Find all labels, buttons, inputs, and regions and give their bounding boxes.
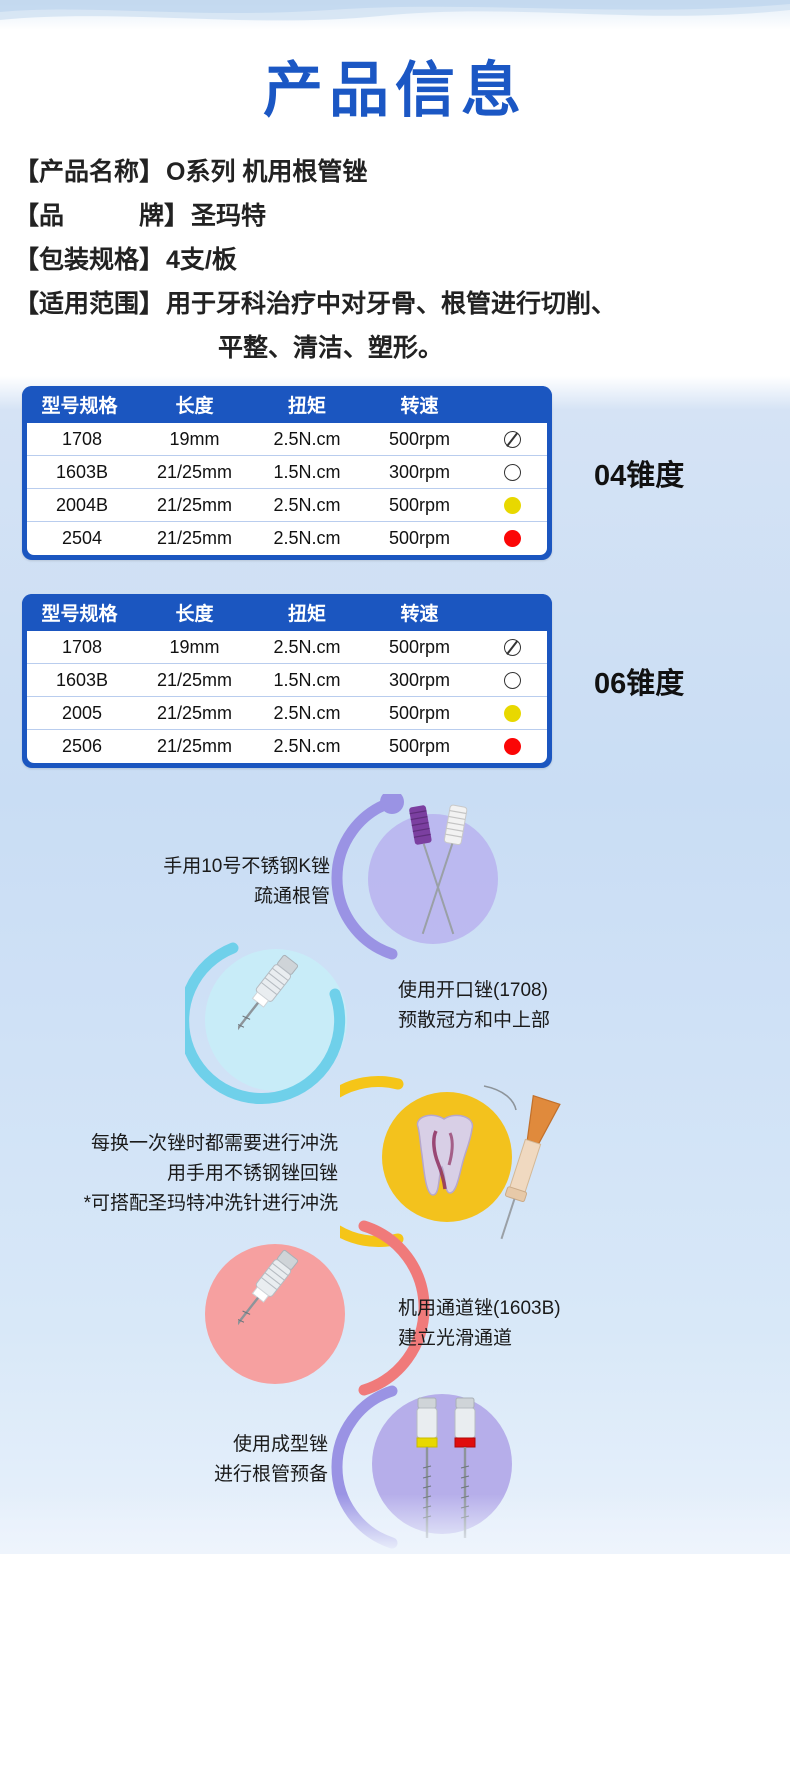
cell-length: 21/25mm <box>137 462 252 483</box>
cell-speed: 500rpm <box>362 528 477 549</box>
column-header-model: 型号规格 <box>22 599 137 626</box>
spec-tables-area: 型号规格 长度 扭矩 转速 1708 19mm 2.5N.cm 500rpm <box>0 370 790 794</box>
cell-torque: 2.5N.cm <box>252 528 362 549</box>
cell-model: 1603B <box>27 462 137 483</box>
cell-marker <box>477 672 547 689</box>
spec-value: 4支/板 <box>164 238 790 282</box>
column-header-torque: 扭矩 <box>252 391 362 418</box>
yellow-circle-icon <box>504 705 521 722</box>
red-circle-icon <box>504 738 521 755</box>
cell-torque: 2.5N.cm <box>252 703 362 724</box>
cell-model: 2504 <box>27 528 137 549</box>
table-row: 1708 19mm 2.5N.cm 500rpm <box>27 423 547 456</box>
cell-length: 21/25mm <box>137 736 252 757</box>
slashed-circle-icon <box>504 431 521 448</box>
cell-model: 2004B <box>27 495 137 516</box>
cell-marker <box>477 464 547 481</box>
cell-length: 19mm <box>137 429 252 450</box>
cell-model: 1708 <box>27 637 137 658</box>
spec-label: 【产品名称】 <box>14 150 164 194</box>
top-decorative-band <box>0 0 790 30</box>
spec-row-brand: 【品 牌】 圣玛特 <box>14 194 790 238</box>
cell-model: 2506 <box>27 736 137 757</box>
k-file-instruments-icon <box>385 800 495 950</box>
workflow-illustration: 手用10号不锈钢K锉 疏通根管 使 <box>0 794 790 1554</box>
cell-length: 21/25mm <box>137 703 252 724</box>
table-gap <box>0 560 790 594</box>
column-header-speed: 转速 <box>362 599 477 626</box>
cell-speed: 500rpm <box>362 703 477 724</box>
cell-marker <box>477 639 547 656</box>
column-header-length: 长度 <box>137 599 252 626</box>
table-header-row: 型号规格 长度 扭矩 转速 <box>22 386 552 423</box>
cell-length: 21/25mm <box>137 670 252 691</box>
taper-label-06: 06锥度 <box>594 660 684 702</box>
cell-torque: 2.5N.cm <box>252 637 362 658</box>
table-row: 1708 19mm 2.5N.cm 500rpm <box>27 631 547 664</box>
empty-circle-icon <box>504 464 521 481</box>
spec-table-block-04: 型号规格 长度 扭矩 转速 1708 19mm 2.5N.cm 500rpm <box>0 386 790 560</box>
cell-model: 1603B <box>27 670 137 691</box>
column-header-model: 型号规格 <box>22 391 137 418</box>
spec-value: 圣玛特 <box>189 194 790 238</box>
cell-marker <box>477 530 547 547</box>
cell-marker <box>477 497 547 514</box>
column-header-torque: 扭矩 <box>252 599 362 626</box>
step-3-caption: 每换一次锉时都需要进行冲洗 用手用不锈钢锉回锉 *可搭配圣玛特冲洗针进行冲洗 <box>28 1129 338 1219</box>
spec-label: 【品 牌】 <box>14 194 189 238</box>
wave-graphic <box>0 0 790 30</box>
cell-model: 1708 <box>27 429 137 450</box>
cell-length: 21/25mm <box>137 495 252 516</box>
cell-speed: 500rpm <box>362 429 477 450</box>
spec-row-packaging: 【包装规格】 4支/板 <box>14 238 790 282</box>
cell-torque: 1.5N.cm <box>252 462 362 483</box>
slashed-circle-icon <box>504 639 521 656</box>
cell-marker <box>477 431 547 448</box>
opener-file-instrument-icon <box>238 954 378 1094</box>
spec-list: 【产品名称】 O系列 机用根管锉 【品 牌】 圣玛特 【包装规格】 4支/板 【… <box>0 146 790 370</box>
table-row: 2005 21/25mm 2.5N.cm 500rpm <box>27 697 547 730</box>
step-2-caption: 使用开口锉(1708) 预散冠方和中上部 <box>398 976 678 1036</box>
step-5-caption: 使用成型锉 进行根管预备 <box>60 1430 328 1490</box>
cell-torque: 2.5N.cm <box>252 736 362 757</box>
spec-label: 【包装规格】 <box>14 238 164 282</box>
spec-value: O系列 机用根管锉 <box>164 150 790 194</box>
cell-torque: 2.5N.cm <box>252 495 362 516</box>
table-row: 2004B 21/25mm 2.5N.cm 500rpm <box>27 489 547 522</box>
irrigation-syringe-icon <box>470 1084 590 1254</box>
taper-label-04: 04锥度 <box>594 452 684 494</box>
column-header-length: 长度 <box>137 391 252 418</box>
column-header-speed: 转速 <box>362 391 477 418</box>
cell-length: 21/25mm <box>137 528 252 549</box>
red-circle-icon <box>504 530 521 547</box>
cell-speed: 300rpm <box>362 462 477 483</box>
spec-row-scope: 【适用范围】 用于牙科治疗中对牙骨、根管进行切削、 平整、清洁、塑形。 <box>14 282 790 370</box>
cell-torque: 1.5N.cm <box>252 670 362 691</box>
spec-table-block-06: 型号规格 长度 扭矩 转速 1708 19mm 2.5N.cm 500rpm <box>0 594 790 768</box>
table-row: 1603B 21/25mm 1.5N.cm 300rpm <box>27 456 547 489</box>
cell-speed: 300rpm <box>362 670 477 691</box>
spec-table-04: 型号规格 长度 扭矩 转速 1708 19mm 2.5N.cm 500rpm <box>22 386 552 560</box>
spec-row-product-name: 【产品名称】 O系列 机用根管锉 <box>14 150 790 194</box>
cell-length: 19mm <box>137 637 252 658</box>
cell-speed: 500rpm <box>362 637 477 658</box>
table-body: 1708 19mm 2.5N.cm 500rpm 1603B 21/25mm 1… <box>27 631 547 763</box>
cell-marker <box>477 738 547 755</box>
yellow-circle-icon <box>504 497 521 514</box>
spec-table-06: 型号规格 长度 扭矩 转速 1708 19mm 2.5N.cm 500rpm <box>22 594 552 768</box>
page-title: 产品信息 <box>0 58 790 124</box>
cell-speed: 500rpm <box>362 495 477 516</box>
spec-value: 用于牙科治疗中对牙骨、根管进行切削、 <box>166 290 616 318</box>
glide-path-file-instrument-icon <box>238 1249 378 1389</box>
table-row: 1603B 21/25mm 1.5N.cm 300rpm <box>27 664 547 697</box>
spec-value-line2: 平整、清洁、塑形。 <box>166 326 790 370</box>
cell-speed: 500rpm <box>362 736 477 757</box>
spec-label: 【适用范围】 <box>14 282 164 326</box>
step-4-caption: 机用通道锉(1603B) 建立光滑通道 <box>398 1294 678 1354</box>
table-row: 2504 21/25mm 2.5N.cm 500rpm <box>27 522 547 555</box>
cell-model: 2005 <box>27 703 137 724</box>
table-row: 2506 21/25mm 2.5N.cm 500rpm <box>27 730 547 763</box>
table-header-row: 型号规格 长度 扭矩 转速 <box>22 594 552 631</box>
step-1-caption: 手用10号不锈钢K锉 疏通根管 <box>90 852 330 912</box>
cell-torque: 2.5N.cm <box>252 429 362 450</box>
bottom-fade <box>0 1494 790 1554</box>
empty-circle-icon <box>504 672 521 689</box>
page-title-wrap: 产品信息 <box>0 30 790 146</box>
table-body: 1708 19mm 2.5N.cm 500rpm 1603B 21/25mm 1… <box>27 423 547 555</box>
product-info-page: 产品信息 【产品名称】 O系列 机用根管锉 【品 牌】 圣玛特 【包装规格】 4… <box>0 0 790 1779</box>
spec-value-group: 用于牙科治疗中对牙骨、根管进行切削、 平整、清洁、塑形。 <box>164 282 790 370</box>
cell-marker <box>477 705 547 722</box>
